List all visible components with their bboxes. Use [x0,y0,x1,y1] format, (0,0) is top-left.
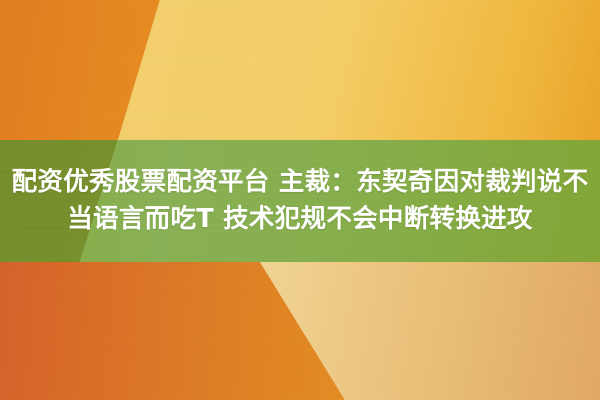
headline-line-2: 当语言而吃T 技术犯规不会中断转换进攻 [67,201,532,238]
headline-line-1: 配资优秀股票配资平台 主裁：东契奇因对裁判说不 [12,164,589,201]
background-band-bottom [0,262,600,400]
promo-banner: 配资优秀股票配资平台 主裁：东契奇因对裁判说不 当语言而吃T 技术犯规不会中断转… [0,0,600,400]
background-band-top [0,0,600,140]
headline-block: 配资优秀股票配资平台 主裁：东契奇因对裁判说不 当语言而吃T 技术犯规不会中断转… [0,140,600,262]
